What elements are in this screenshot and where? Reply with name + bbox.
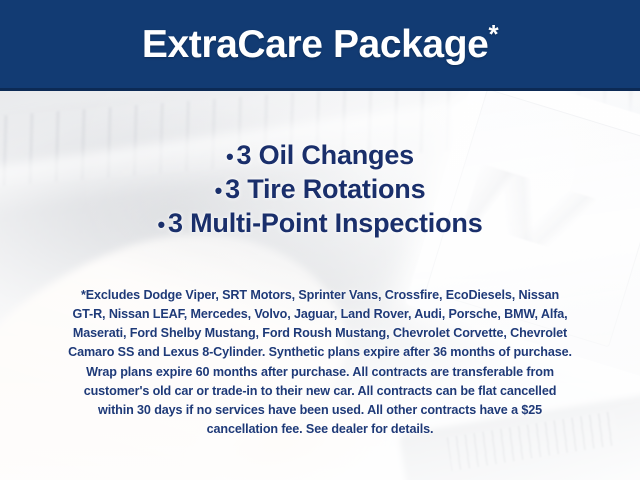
disclaimer-line: cancellation fee. See dealer for details…	[28, 420, 612, 439]
list-item: •3 Oil Changes	[0, 138, 640, 172]
page-title: ExtraCare Package*	[142, 25, 498, 64]
disclaimer-line: *Excludes Dodge Viper, SRT Motors, Sprin…	[28, 286, 612, 305]
disclaimer-line: customer's old car or trade-in to their …	[28, 382, 612, 401]
list-item: •3 Tire Rotations	[0, 172, 640, 206]
list-item-label: 3 Oil Changes	[237, 140, 414, 170]
disclaimer-line: Camaro SS and Lexus 8-Cylinder. Syntheti…	[28, 343, 612, 362]
benefits-list: •3 Oil Changes •3 Tire Rotations •3 Mult…	[0, 138, 640, 240]
bullet-icon: •	[215, 178, 223, 203]
list-item-label: 3 Multi-Point Inspections	[168, 208, 483, 238]
page-title-text: ExtraCare Package	[142, 23, 489, 66]
disclaimer-line: within 30 days if no services have been …	[28, 401, 612, 420]
header-band: ExtraCare Package*	[0, 0, 640, 91]
disclaimer-line: GT-R, Nissan LEAF, Mercedes, Volvo, Jagu…	[28, 305, 612, 324]
bullet-icon: •	[226, 144, 234, 169]
list-item: •3 Multi-Point Inspections	[0, 206, 640, 240]
disclaimer-line: Wrap plans expire 60 months after purcha…	[28, 363, 612, 382]
disclaimer-text: *Excludes Dodge Viper, SRT Motors, Sprin…	[28, 286, 612, 439]
disclaimer-line: Maserati, Ford Shelby Mustang, Ford Rous…	[28, 324, 612, 343]
list-item-label: 3 Tire Rotations	[225, 174, 425, 204]
bullet-icon: •	[157, 212, 165, 237]
extracare-package-ad: ExtraCare Package* •3 Oil Changes •3 Tir…	[0, 0, 640, 480]
footnote-asterisk: *	[488, 19, 498, 49]
